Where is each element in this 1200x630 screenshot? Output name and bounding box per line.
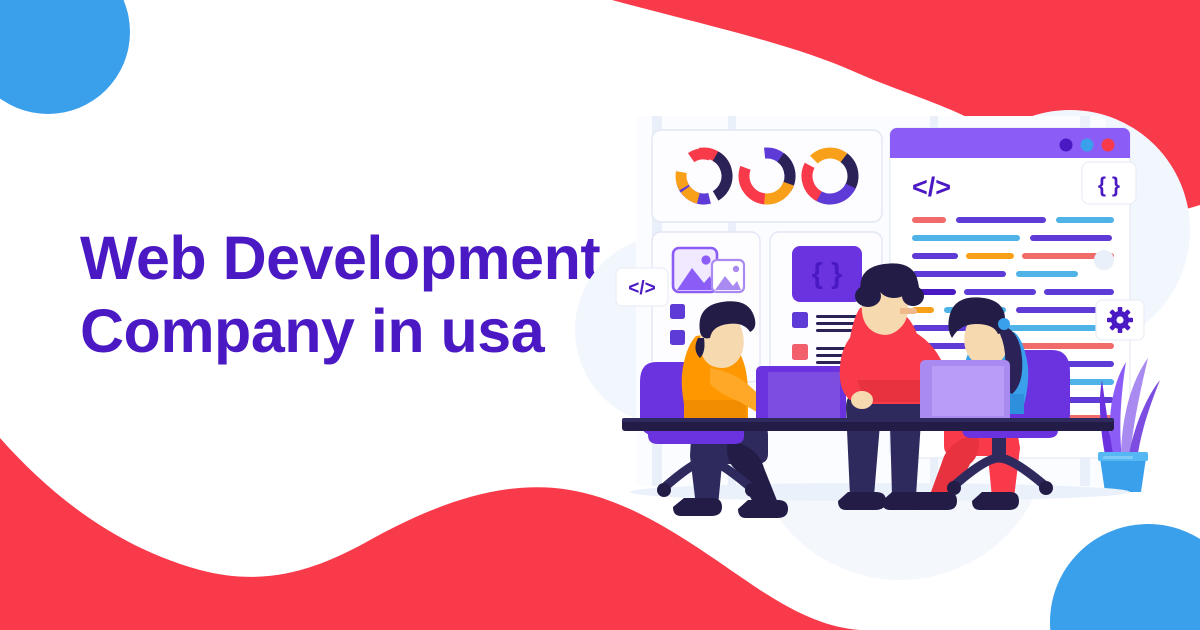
web-development-team-illustration: { } </> [600,100,1160,530]
swatch [670,304,685,319]
legend-swatch [792,344,808,360]
chair-wheel [1039,481,1053,495]
braces-badge[interactable]: { } [1082,162,1136,204]
gear-badge[interactable] [1096,300,1144,340]
image-icon [673,248,717,292]
plant-pot [1100,458,1146,492]
window-dot-red [1102,139,1115,152]
headline-block: Web Development Company in usa [80,222,640,368]
hand [851,391,873,409]
window-titlebar [890,128,1130,158]
decor-dot [1094,250,1114,270]
window-dot-blue [1081,139,1094,152]
braces-glyph: { } [812,258,843,290]
shoe [910,492,957,510]
shoe [972,492,1019,510]
analytics-card[interactable] [652,130,882,222]
braces-badge-glyph: { } [1098,174,1120,197]
code-tag-badge-glyph: </> [628,278,655,299]
swatch [670,330,685,345]
window-dot-purple [1060,139,1073,152]
legend-swatch [792,312,808,328]
code-tag-badge[interactable]: </> [616,268,668,306]
hair-tie [998,318,1010,330]
chair-wheel [657,483,671,497]
laptop[interactable] [914,360,1018,424]
shoe [838,492,886,510]
chair-wheel [947,481,961,495]
shoe [738,500,788,518]
gear-icon [1107,307,1133,333]
image-icon [712,260,744,292]
banner-root: Web Development Company in usa [0,0,1200,630]
shoe [673,498,722,516]
chair-wheel [745,483,759,497]
page-title: Web Development Company in usa [80,222,640,368]
code-tag-glyph: </> [912,172,951,202]
